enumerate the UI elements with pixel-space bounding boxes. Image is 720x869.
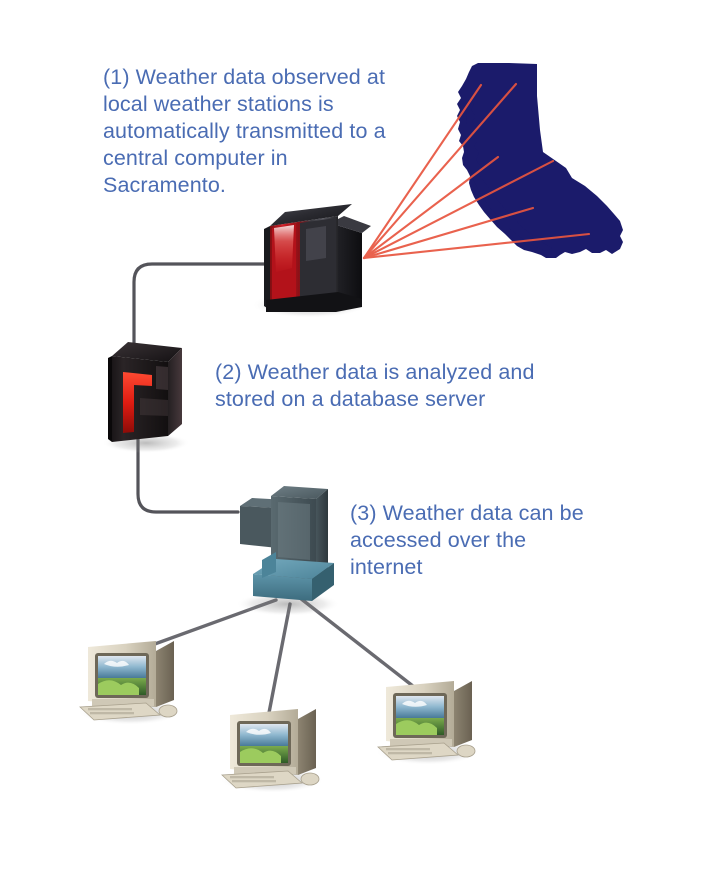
cable-web-to-client-2: [268, 604, 290, 718]
client-computer-3: [376, 681, 480, 765]
central-computer-left-side: [264, 226, 270, 310]
client-1-screen-sky: [98, 656, 146, 680]
client-2-mouse: [301, 773, 319, 785]
central-computer-server: [252, 204, 371, 318]
central-computer-column-sheen: [306, 226, 326, 261]
database-server: [102, 342, 190, 453]
database-server-left-edge: [108, 356, 112, 442]
callout-step-1: (1) Weather data observed at local weath…: [103, 64, 403, 199]
web-server: [236, 486, 340, 616]
database-server-sheen-lower: [140, 398, 168, 416]
web-server-tower-sheen: [278, 502, 310, 560]
client-1-mouse: [159, 705, 177, 717]
callout-step-3: (3) Weather data can be accessed over th…: [350, 500, 590, 581]
california-map-icon: [457, 63, 623, 258]
client-computer-1: [78, 641, 182, 725]
callout-step-2: (2) Weather data is analyzed and stored …: [215, 359, 585, 413]
client-3-monitor-side: [454, 681, 472, 747]
database-server-sheen-upper: [156, 366, 168, 390]
client-computer-2: [220, 709, 324, 793]
california-map-shape: [457, 63, 623, 258]
diagram-canvas: (1) Weather data observed at local weath…: [0, 0, 720, 869]
central-computer-red-highlight: [274, 225, 294, 272]
client-2-monitor-side: [298, 709, 316, 775]
client-2-screen-sky: [240, 724, 288, 748]
client-1-monitor-side: [156, 641, 174, 707]
client-3-screen-sky: [396, 696, 444, 720]
client-3-mouse: [457, 745, 475, 757]
database-server-right-side: [168, 348, 182, 436]
cable-central-to-db: [134, 264, 268, 345]
